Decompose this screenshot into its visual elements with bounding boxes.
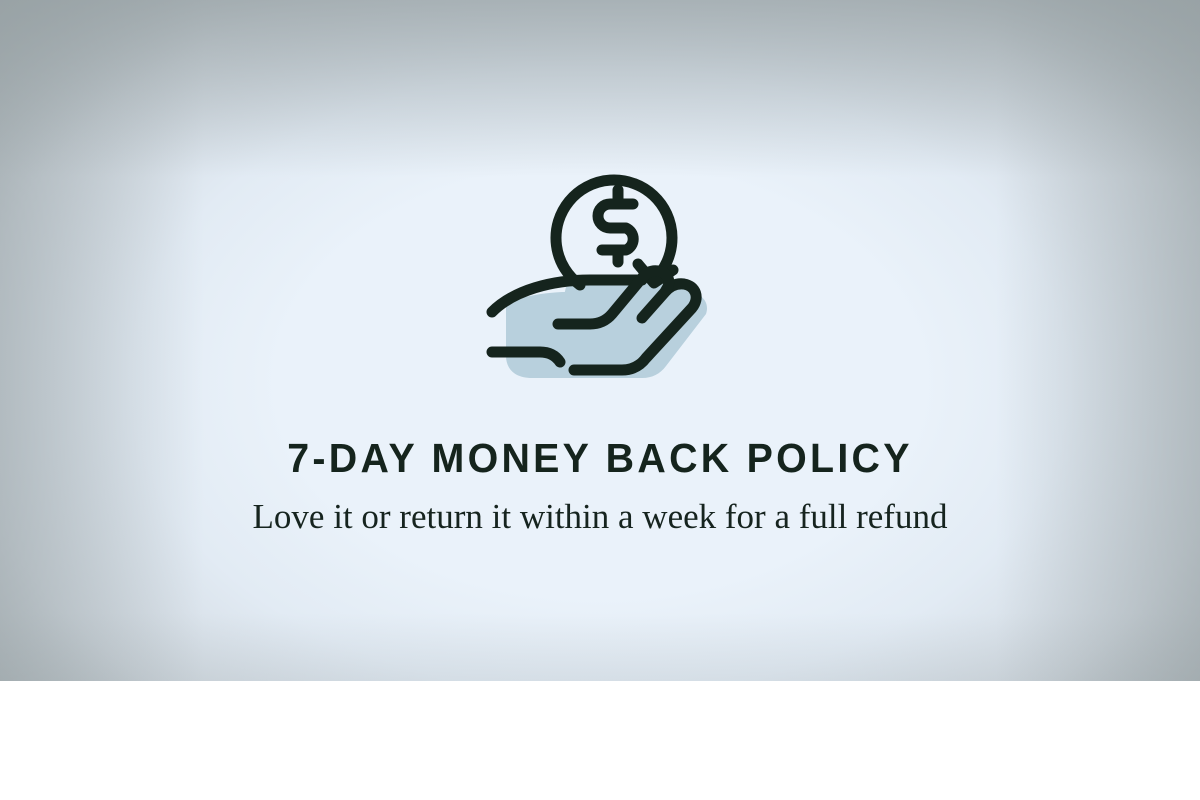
promo-subtitle: Love it or return it within a week for a… [250,494,950,540]
promo-card: 7-DAY MONEY BACK POLICY Love it or retur… [0,0,1200,800]
promo-icon [0,152,1200,392]
hand-holding-money-refund-icon [470,152,730,392]
dollar-sign-icon [598,190,633,262]
footer-bar: Rydell (701) 772-7211 rydellchev.com [0,681,1200,800]
page-title: 7-DAY MONEY BACK POLICY [24,432,1176,484]
